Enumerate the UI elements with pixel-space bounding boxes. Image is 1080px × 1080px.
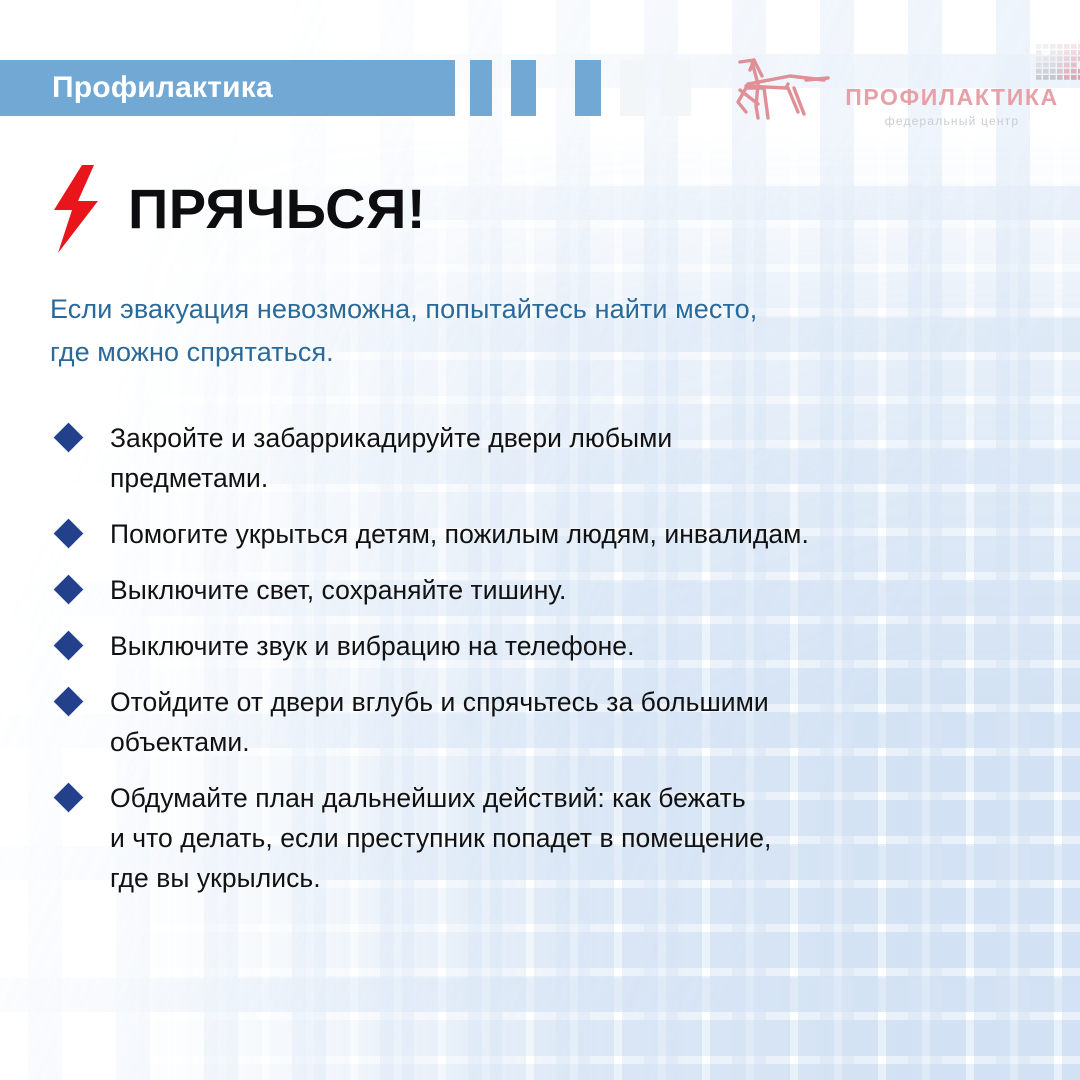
dog-line-art-icon xyxy=(728,54,832,124)
header-accent-block-3 xyxy=(575,60,601,116)
list-item-text: Закройте и забаррикадируйте двери любыми… xyxy=(110,418,1032,498)
list-item-line: Закройте и забаррикадируйте двери любыми xyxy=(110,418,1032,458)
list-item-line: предметами. xyxy=(110,458,1032,498)
page-title-row: ПРЯЧЬСЯ! xyxy=(48,163,426,255)
list-item: Закройте и забаррикадируйте двери любыми… xyxy=(52,418,1032,498)
list-item-text: Обдумайте план дальнейших действий: как … xyxy=(110,778,1032,898)
list-item-line: и что делать, если преступник попадет в … xyxy=(110,818,1032,858)
list-item: Выключите свет, сохраняйте тишину. xyxy=(52,570,1032,610)
list-item-line: объектами. xyxy=(110,722,1032,762)
brand-tagline: федеральный центр xyxy=(838,114,1066,128)
list-item-text: Помогите укрыться детям, пожилым людям, … xyxy=(110,514,1032,554)
list-item: Обдумайте план дальнейших действий: как … xyxy=(52,778,1032,898)
diamond-bullet-icon xyxy=(52,778,110,818)
list-item-line: Помогите укрыться детям, пожилым людям, … xyxy=(110,514,1032,554)
page-subtitle-line-2: где можно спрятаться. xyxy=(50,331,1010,374)
brand-wordmark-group: ПРОФИЛАКТИКА федеральный центр xyxy=(838,40,1066,136)
header-category-label: Профилактика xyxy=(52,66,273,110)
poster-canvas: Профилактика xyxy=(0,0,1080,1080)
advice-list: Закройте и забаррикадируйте двери любыми… xyxy=(52,418,1032,914)
list-item-text: Отойдите от двери вглубь и спрячьтесь за… xyxy=(110,682,1032,762)
diamond-bullet-icon xyxy=(52,570,110,610)
list-item: Отойдите от двери вглубь и спрячьтесь за… xyxy=(52,682,1032,762)
list-item-line: Обдумайте план дальнейших действий: как … xyxy=(110,778,1032,818)
list-item-line: Отойдите от двери вглубь и спрячьтесь за… xyxy=(110,682,1032,722)
diamond-bullet-icon xyxy=(52,682,110,722)
list-item: Выключите звук и вибрацию на телефоне. xyxy=(52,626,1032,666)
pixel-grid-icon xyxy=(1036,44,1080,86)
diamond-bullet-icon xyxy=(52,418,110,458)
lightning-bolt-icon xyxy=(48,163,104,255)
page-subtitle: Если эвакуация невозможна, попытайтесь н… xyxy=(50,288,1010,374)
header-accent-block-5 xyxy=(661,60,691,116)
header-accent-block-1 xyxy=(470,60,492,116)
page-subtitle-line-1: Если эвакуация невозможна, попытайтесь н… xyxy=(50,288,1010,331)
list-item-line: Выключите звук и вибрацию на телефоне. xyxy=(110,626,1032,666)
header-accent-block-2 xyxy=(511,60,536,116)
list-item-line: где вы укрылись. xyxy=(110,858,1032,898)
brand-wordmark-text: ПРОФИЛАКТИКА xyxy=(838,84,1066,111)
diamond-bullet-icon xyxy=(52,514,110,554)
header-accent-block-4 xyxy=(620,60,645,116)
list-item-text: Выключите свет, сохраняйте тишину. xyxy=(110,570,1032,610)
list-item-text: Выключите звук и вибрацию на телефоне. xyxy=(110,626,1032,666)
list-item-line: Выключите свет, сохраняйте тишину. xyxy=(110,570,1032,610)
diamond-bullet-icon xyxy=(52,626,110,666)
page-title: ПРЯЧЬСЯ! xyxy=(128,181,426,237)
list-item: Помогите укрыться детям, пожилым людям, … xyxy=(52,514,1032,554)
brand-logo: ПРОФИЛАКТИКА федеральный центр xyxy=(726,40,1066,140)
header: Профилактика xyxy=(0,0,1080,150)
